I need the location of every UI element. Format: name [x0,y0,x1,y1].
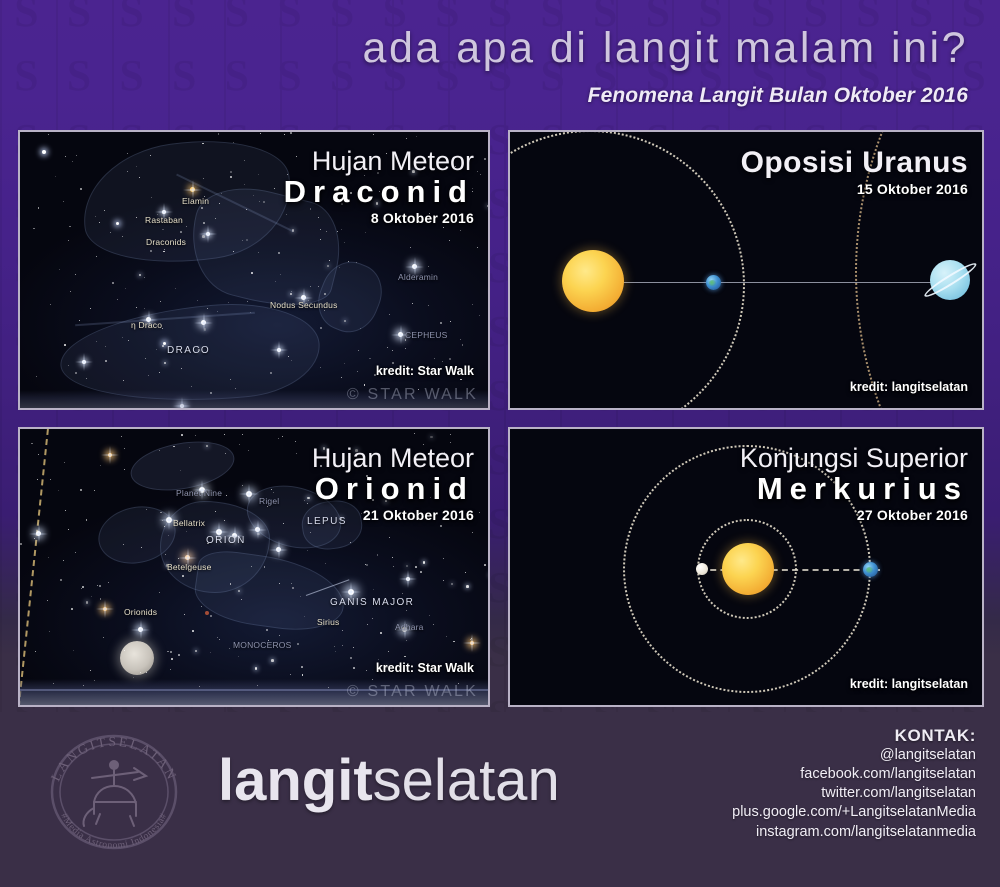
star [271,659,274,662]
star-alderamin [412,264,417,269]
star-label-nodus-secundus: Nodus Secundus [270,300,338,310]
star [378,659,379,660]
poster-root: SSSSSSSSSSSSSSSSSSSSSSSSSSSSSSSSSSSSSSSS… [0,0,1000,887]
panel-title-merkurius: Konjungsi Superior Merkurius 27 Oktober … [740,445,968,523]
star [297,643,299,645]
star-label-rastaban: Rastaban [145,215,183,225]
panel-draconid[interactable]: Hujan Meteor Draconid 8 Oktober 2016 kre… [18,130,490,410]
star [410,247,411,248]
star-bellatrix [166,517,172,523]
star [328,687,329,688]
star [405,348,406,349]
star [366,564,368,566]
panel-date: 8 Oktober 2016 [284,210,474,226]
star-label-adhara: Adhara [395,622,424,632]
star [472,304,473,305]
star [139,177,140,178]
star-amber-lower [103,607,107,611]
star [95,216,96,217]
star-label-betelgeuse: Betelgeuse [167,562,212,572]
star [324,293,326,295]
starwalk-watermark: © STAR WALK [347,683,478,701]
star-draconids [206,232,210,236]
star [270,372,272,374]
star [304,616,305,617]
star [123,380,124,381]
star-label-draconids: Draconids [146,237,186,247]
contact-block: KONTAK: @langitselatan facebook.com/lang… [732,726,976,842]
star [148,375,149,376]
star-label-planet-nine: Planet Nine [176,488,222,498]
star-draco-mid [201,320,206,325]
star [230,176,232,178]
star [76,155,77,156]
star-orion-belt-3 [255,527,260,532]
panel-date: 21 Oktober 2016 [312,507,474,523]
star [103,637,104,638]
star [184,614,185,615]
star-label-draco: DRACO [167,345,210,356]
star-label-monoceros: MONOCEROS [233,640,291,650]
star-sirius [348,589,354,595]
star [246,209,247,210]
panel-credit: kredit: langitselatan [850,677,968,691]
star [258,252,259,253]
star [150,250,152,252]
star-betelgeuse [185,555,190,560]
star [304,500,305,501]
star [329,260,330,261]
star [279,583,280,584]
star [251,566,252,567]
star-label-draco: η Draco [131,320,162,330]
star-label-orionids: Orionids [124,607,157,617]
star [146,672,147,673]
star [450,434,451,435]
star [160,301,161,302]
star [320,327,322,329]
star [110,232,111,233]
panel-date: 15 Oktober 2016 [741,181,968,197]
star [205,611,209,615]
panel-credit: kredit: langitselatan [850,380,968,394]
star [258,174,259,175]
star [64,462,65,463]
star [86,378,87,379]
star [251,272,253,274]
panel-title-orionid: Hujan Meteor Orionid 21 Oktober 2016 [312,445,474,523]
panel-uranus[interactable]: Oposisi Uranus 15 Oktober 2016 kredit: l… [508,130,984,410]
star [162,520,163,521]
starwalk-watermark: © STAR WALK [347,386,478,404]
star [60,579,62,581]
star [116,222,119,225]
star [292,587,294,589]
sun [562,250,624,312]
page-subtitle: Fenomena Langit Bulan Oktober 2016 [588,84,968,108]
panel-date: 27 Oktober 2016 [740,507,968,523]
panel-title-line1: Hujan Meteor [284,148,474,176]
star [210,615,212,617]
star [415,566,417,568]
star [282,436,283,437]
star [42,150,46,154]
star [180,231,182,233]
star [247,301,248,302]
star [442,361,443,362]
star [402,593,403,594]
star [191,386,192,387]
moon [120,641,154,675]
star [217,311,218,312]
star [291,360,292,361]
langitselatan-logo[interactable]: LANGITSELATAN #Media Astronomi Indonesia… [34,728,194,856]
star [290,132,292,134]
earth-orbit-circle [510,132,745,408]
contact-facebook[interactable]: facebook.com/langitselatan [732,765,976,784]
star [96,256,97,257]
star [275,281,276,282]
page-title: ada apa di langit malam ini? [363,24,968,73]
star [189,447,190,448]
panel-title-line2: Merkurius [740,473,968,506]
star-left-edge [82,360,86,364]
star [279,635,280,636]
star-left-bright [36,531,41,536]
star [90,670,91,671]
star [266,629,268,631]
star [65,156,66,157]
contact-handle[interactable]: @langitselatan [732,746,976,765]
star [192,630,194,632]
star [465,572,466,573]
header: ada apa di langit malam ini? Fenomena La… [0,0,1000,120]
star [64,344,66,346]
star [466,585,469,588]
star [324,310,325,311]
star [301,666,303,668]
star [164,249,165,250]
star [124,448,125,449]
star-label-sirius: Sirius [317,617,339,627]
panel-title-uranus: Oposisi Uranus 15 Oktober 2016 [741,148,968,197]
star [170,651,172,653]
panel-title-line2: Orionid [312,473,474,506]
star-draco-low [277,348,281,352]
star [112,282,114,284]
star-label-cepheus: CEPHEUS [405,330,448,340]
star [387,347,388,348]
earth [863,562,878,577]
panel-credit: kredit: Star Walk [376,661,474,675]
logo-arc-bottom-text: #Media Astronomi Indonesia# [58,812,169,851]
sun [722,543,774,595]
star-amber-left [108,453,112,457]
panel-title-draconid: Hujan Meteor Draconid 8 Oktober 2016 [284,148,474,226]
star [100,465,101,466]
star [82,586,84,588]
star [440,525,442,527]
panel-merkurius[interactable]: Konjungsi Superior Merkurius 27 Oktober … [508,427,984,707]
star [178,654,180,656]
star [406,610,407,611]
star [233,142,234,143]
star [230,171,232,173]
panel-title-line1: Konjungsi Superior [740,445,968,473]
contact-instagram[interactable]: instagram.com/langitselatanmedia [732,823,976,842]
star [360,328,361,329]
star [288,356,289,357]
star [182,575,184,577]
star [201,606,202,607]
uranus [930,260,970,300]
panel-orionid[interactable]: Hujan Meteor Orionid 21 Oktober 2016 kre… [18,427,490,707]
brand-wordmark: langitselatan [218,752,560,810]
panel-title-line1: Hujan Meteor [312,445,474,473]
star-label-rigel: Rigel [259,496,279,506]
star-label-orion: ORION [206,535,246,546]
star [38,454,39,455]
star [80,188,82,190]
star [350,657,352,659]
star [226,495,227,496]
star [73,650,74,651]
earth [706,275,721,290]
star-cepheus-bright [398,332,403,337]
star [344,242,345,243]
star-elamin [190,187,195,192]
star [446,636,447,637]
star-right-bright [406,577,410,581]
star [202,235,205,238]
star [159,592,160,593]
sagittarius-archer-icon [83,760,146,826]
star [117,299,118,300]
star [307,497,310,500]
star [325,563,326,564]
star [380,632,382,634]
star [263,201,265,203]
star-label-alderamin: Alderamin [398,272,438,282]
star [320,239,321,240]
star [90,308,91,309]
panel-credit: kredit: Star Walk [376,364,474,378]
contact-heading: KONTAK: [732,726,976,746]
star [392,350,393,351]
star [428,266,429,267]
star-label-bellatrix: Bellatrix [173,518,205,528]
star [133,677,134,678]
star [257,533,260,536]
star [291,291,292,292]
star [477,171,478,172]
star [168,535,169,536]
brand-bold: langit [218,748,373,813]
star [373,134,374,135]
star [181,434,183,436]
star [440,322,442,324]
star-amber-right [470,641,474,645]
panel-title-line2: Draconid [284,176,474,209]
star [429,615,430,616]
star [248,450,249,451]
star [290,293,293,296]
star [99,585,101,587]
star-saiph [276,547,281,552]
star [430,436,433,439]
panel-title-line1: Oposisi Uranus [741,148,968,179]
star-label-ganis-major: GANIS MAJOR [330,597,414,608]
star-rigel [246,491,252,497]
mercury [696,563,708,575]
star [278,252,280,254]
star [36,376,37,377]
star [124,469,125,470]
star [75,372,77,374]
opposition-sightline [605,282,955,283]
star [393,566,394,567]
star [75,552,76,553]
star [295,441,296,442]
star-orionids-radiant [138,627,143,632]
star [65,510,66,511]
contact-googleplus[interactable]: plus.google.com/+LangitselatanMedia [732,803,976,822]
star [484,158,486,160]
star [71,608,73,610]
brand-light: selatan [373,748,560,813]
star [479,315,480,316]
star [171,658,173,660]
star [81,588,82,589]
star [484,564,486,566]
star [353,667,355,669]
contact-twitter[interactable]: twitter.com/langitselatan [732,784,976,803]
star [136,307,137,308]
star-label-elamin: Elamin [182,196,209,206]
star [460,230,461,231]
star [80,489,82,491]
star [136,166,137,167]
